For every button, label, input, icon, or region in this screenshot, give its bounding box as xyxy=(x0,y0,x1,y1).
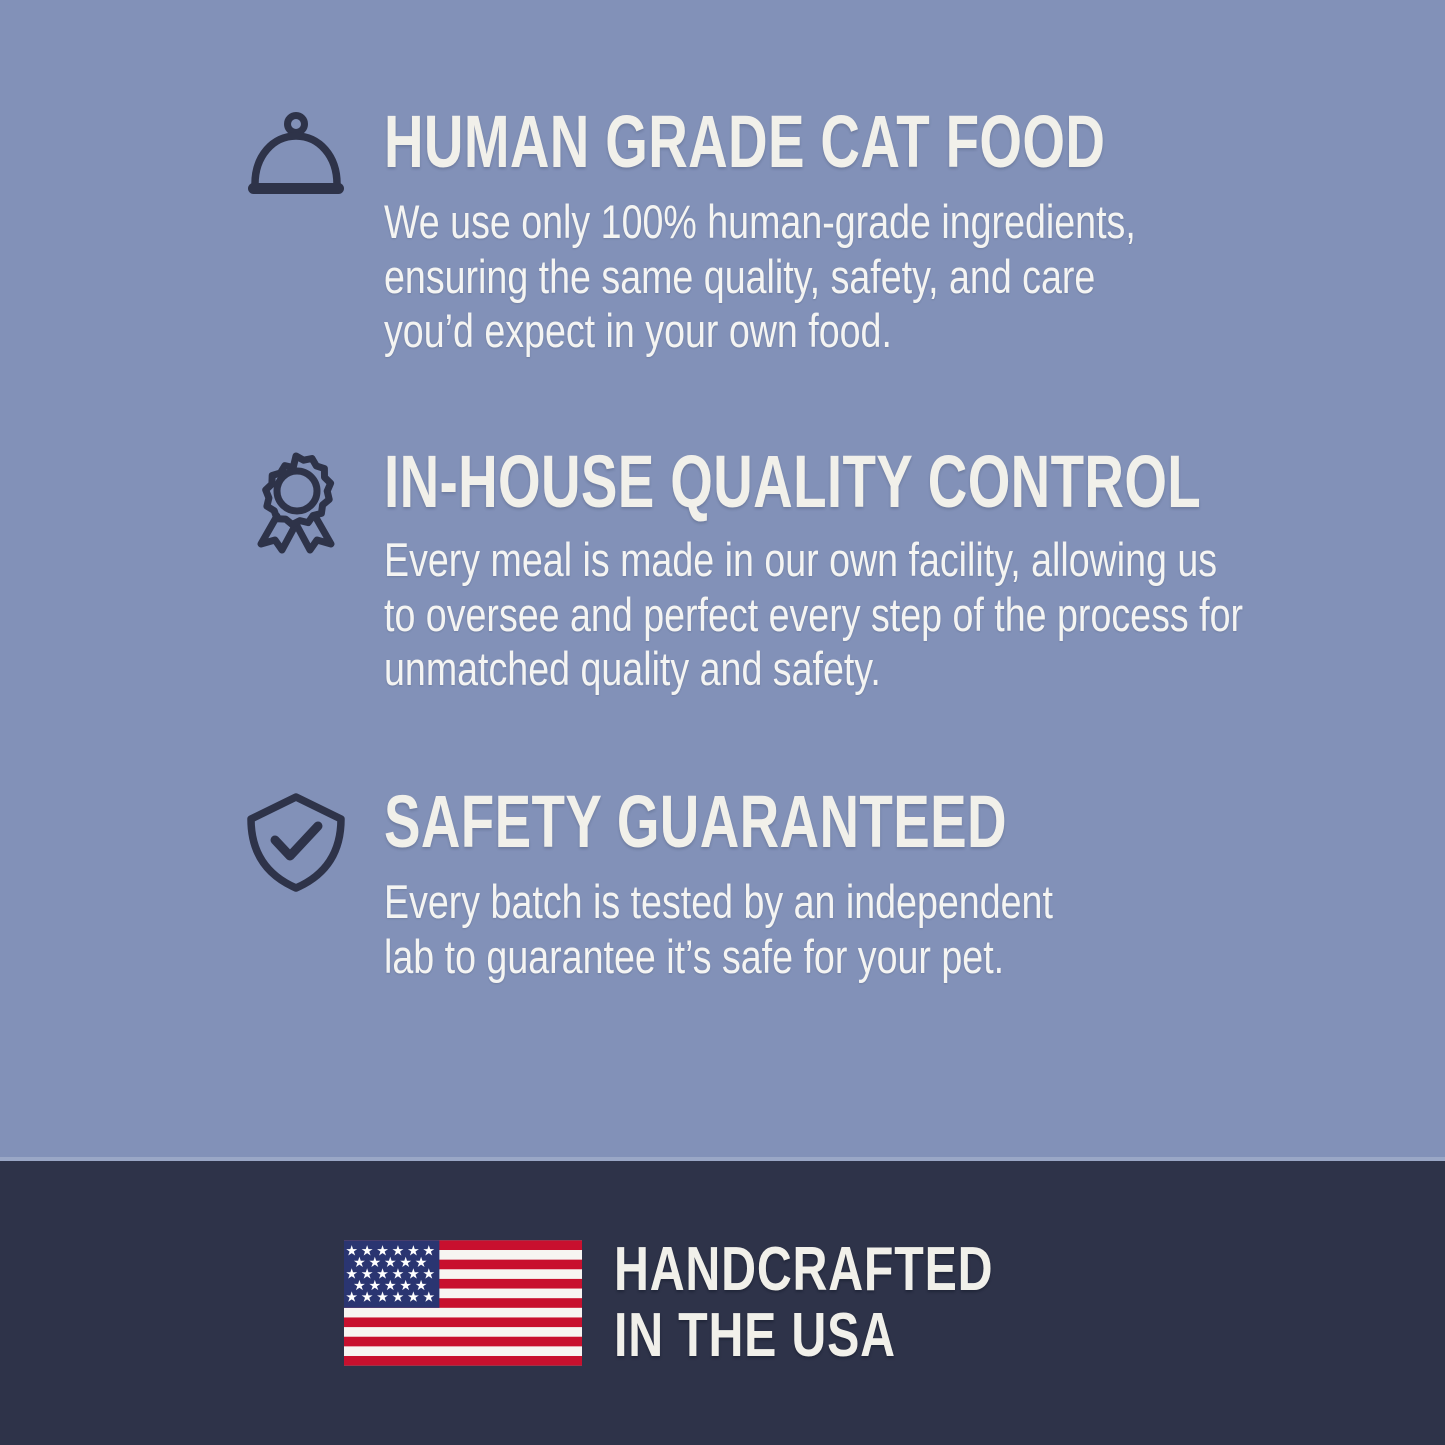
feature-item-safety: SAFETY GUARANTEED Every batch is tested … xyxy=(236,786,1196,984)
features-list: HUMAN GRADE CAT FOOD We use only 100% hu… xyxy=(0,0,1445,1157)
handcrafted-usa-text: HANDCRAFTED IN THE USA xyxy=(614,1239,1100,1367)
handcrafted-line-1: HANDCRAFTED xyxy=(614,1239,993,1301)
feature-title: IN-HOUSE QUALITY CONTROL xyxy=(384,446,1201,517)
feature-body: SAFETY GUARANTEED Every batch is tested … xyxy=(356,786,1226,984)
usa-flag-icon xyxy=(344,1239,582,1367)
feature-description: Every batch is tested by an independent … xyxy=(384,875,1057,984)
cloche-dome-icon xyxy=(236,106,356,216)
shield-check-icon xyxy=(236,786,356,896)
footer-banner: HANDCRAFTED IN THE USA xyxy=(0,1161,1445,1445)
feature-poster: HUMAN GRADE CAT FOOD We use only 100% hu… xyxy=(0,0,1445,1445)
feature-description: Every meal is made in our own facility, … xyxy=(384,533,1256,697)
feature-body: HUMAN GRADE CAT FOOD We use only 100% hu… xyxy=(356,106,1359,359)
handcrafted-line-2: IN THE USA xyxy=(614,1305,993,1367)
feature-title: HUMAN GRADE CAT FOOD xyxy=(384,106,1105,177)
award-ribbon-icon xyxy=(236,446,356,556)
feature-item-quality-control: IN-HOUSE QUALITY CONTROL Every meal is m… xyxy=(236,446,1196,697)
feature-body: IN-HOUSE QUALITY CONTROL Every meal is m… xyxy=(356,446,1445,697)
feature-item-human-grade: HUMAN GRADE CAT FOOD We use only 100% hu… xyxy=(236,106,1196,359)
feature-title: SAFETY GUARANTEED xyxy=(384,786,1007,857)
feature-description: We use only 100% human-grade ingredients… xyxy=(384,195,1164,359)
